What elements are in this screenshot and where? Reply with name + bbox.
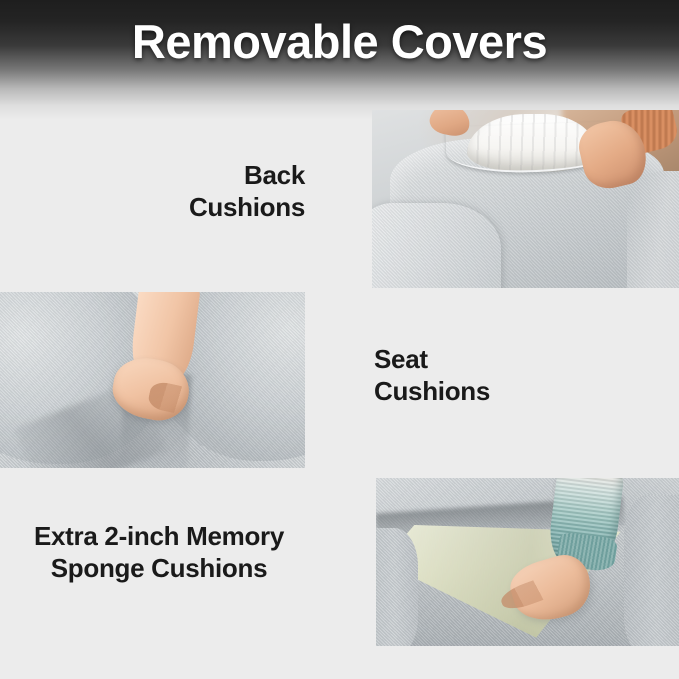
caption-memory-sponge-cushions: Extra 2-inch Memory Sponge Cushions <box>0 521 318 584</box>
back-cushion-unzip-photo <box>372 110 679 288</box>
photo-scene <box>376 478 679 646</box>
photo-scene <box>372 110 679 288</box>
sofa-right-arm <box>627 171 679 288</box>
memory-foam-photo <box>376 478 679 646</box>
front-seat-cushion <box>372 203 501 288</box>
photo-scene <box>0 292 305 468</box>
sofa-left-arm <box>376 528 418 646</box>
cushion-press-photo <box>0 292 305 468</box>
caption-back-cushions: Back Cushions <box>189 160 305 223</box>
caption-seat-cushions: Seat Cushions <box>374 344 490 407</box>
page-title: Removable Covers <box>0 14 679 69</box>
infographic-canvas: Removable Covers Back Cushions <box>0 0 679 679</box>
sofa-right-arm <box>624 495 679 646</box>
